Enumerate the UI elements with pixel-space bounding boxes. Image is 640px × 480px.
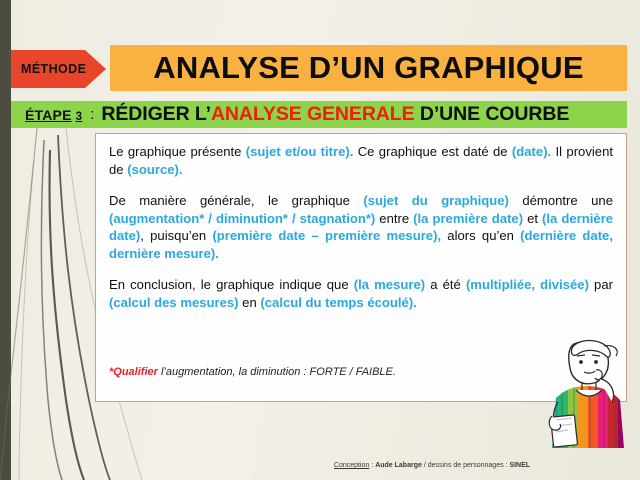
paragraph-2: De manière générale, le graphique (sujet…	[109, 192, 613, 262]
step-heading: RÉDIGER L’ANALYSE GENERALE D’UNE COURBE	[101, 103, 569, 126]
credit-illustrator: SINEL	[509, 462, 530, 469]
text-segment-5: (source).	[127, 162, 182, 177]
text-segment-1: (la mesure)	[354, 277, 425, 292]
text-segment-6: en	[239, 295, 261, 310]
text-segment-2: démontre une	[509, 193, 613, 208]
step-label-number: 3	[76, 111, 83, 123]
text-segment-0: De manière générale, le graphique	[109, 193, 363, 208]
text-segment-5: (la première date)	[413, 211, 523, 226]
methode-tag: MÉTHODE	[11, 50, 106, 88]
step-banner: ÉTAPE 3 : RÉDIGER L’ANALYSE GENERALE D’U…	[11, 101, 627, 128]
text-segment-1: (sujet du graphique)	[363, 193, 509, 208]
text-segment-8: , puisqu’en	[140, 228, 212, 243]
footnote: *Qualifier l’augmentation, la diminution…	[109, 366, 396, 378]
text-segment-6: et	[523, 211, 542, 226]
text-segment-9: (première date – première mesure),	[212, 228, 441, 243]
credit-author: Aude Labarge	[375, 462, 422, 469]
text-segment-5: (calcul des mesures)	[109, 295, 239, 310]
step-separator: :	[90, 106, 94, 123]
text-segment-2: Ce graphique est daté de	[353, 144, 512, 159]
left-accent-bar	[0, 0, 11, 480]
text-segment-0: En conclusion, le graphique indique que	[109, 277, 354, 292]
step-heading-before: RÉDIGER L’	[101, 103, 211, 125]
credit-label: Conception	[334, 462, 369, 469]
step-heading-highlight: ANALYSE GENERALE	[211, 103, 415, 125]
step-heading-after: D’UNE COURBE	[415, 103, 570, 125]
credit-line: Conception : Aude Labarge / dessins de p…	[0, 462, 640, 469]
text-segment-4: par	[589, 277, 613, 292]
paragraph-3: En conclusion, le graphique indique que …	[109, 276, 613, 311]
footnote-marker-emphasis: *Qualifier	[109, 366, 158, 378]
step-label: ÉTAPE 3	[25, 107, 82, 123]
title-banner: ANALYSE D’UN GRAPHIQUE	[110, 45, 627, 91]
page-title: ANALYSE D’UN GRAPHIQUE	[153, 50, 583, 86]
text-segment-3: (multipliée, divisée)	[466, 277, 589, 292]
text-segment-2: a été	[425, 277, 466, 292]
text-segment-0: Le graphique présente	[109, 144, 246, 159]
text-segment-3: (augmentation* / diminution* / stagnatio…	[109, 211, 375, 226]
text-segment-10: alors qu’en	[441, 228, 520, 243]
step-label-word: ÉTAPE	[25, 107, 72, 123]
slide-canvas: MÉTHODE ANALYSE D’UN GRAPHIQUE ÉTAPE 3 :…	[0, 0, 640, 480]
text-segment-3: (date).	[512, 144, 551, 159]
paragraph-1: Le graphique présente (sujet et/ou titre…	[109, 143, 613, 178]
footnote-rest: l’augmentation, la diminution : FORTE / …	[158, 366, 396, 378]
text-segment-7: (calcul du temps écoulé).	[260, 295, 416, 310]
text-segment-1: (sujet et/ou titre).	[246, 144, 354, 159]
credit-middle: / dessins de personnages :	[422, 462, 510, 469]
methode-tag-label: MÉTHODE	[21, 62, 86, 76]
text-segment-4: entre	[375, 211, 413, 226]
thinking-student-icon	[538, 336, 636, 454]
